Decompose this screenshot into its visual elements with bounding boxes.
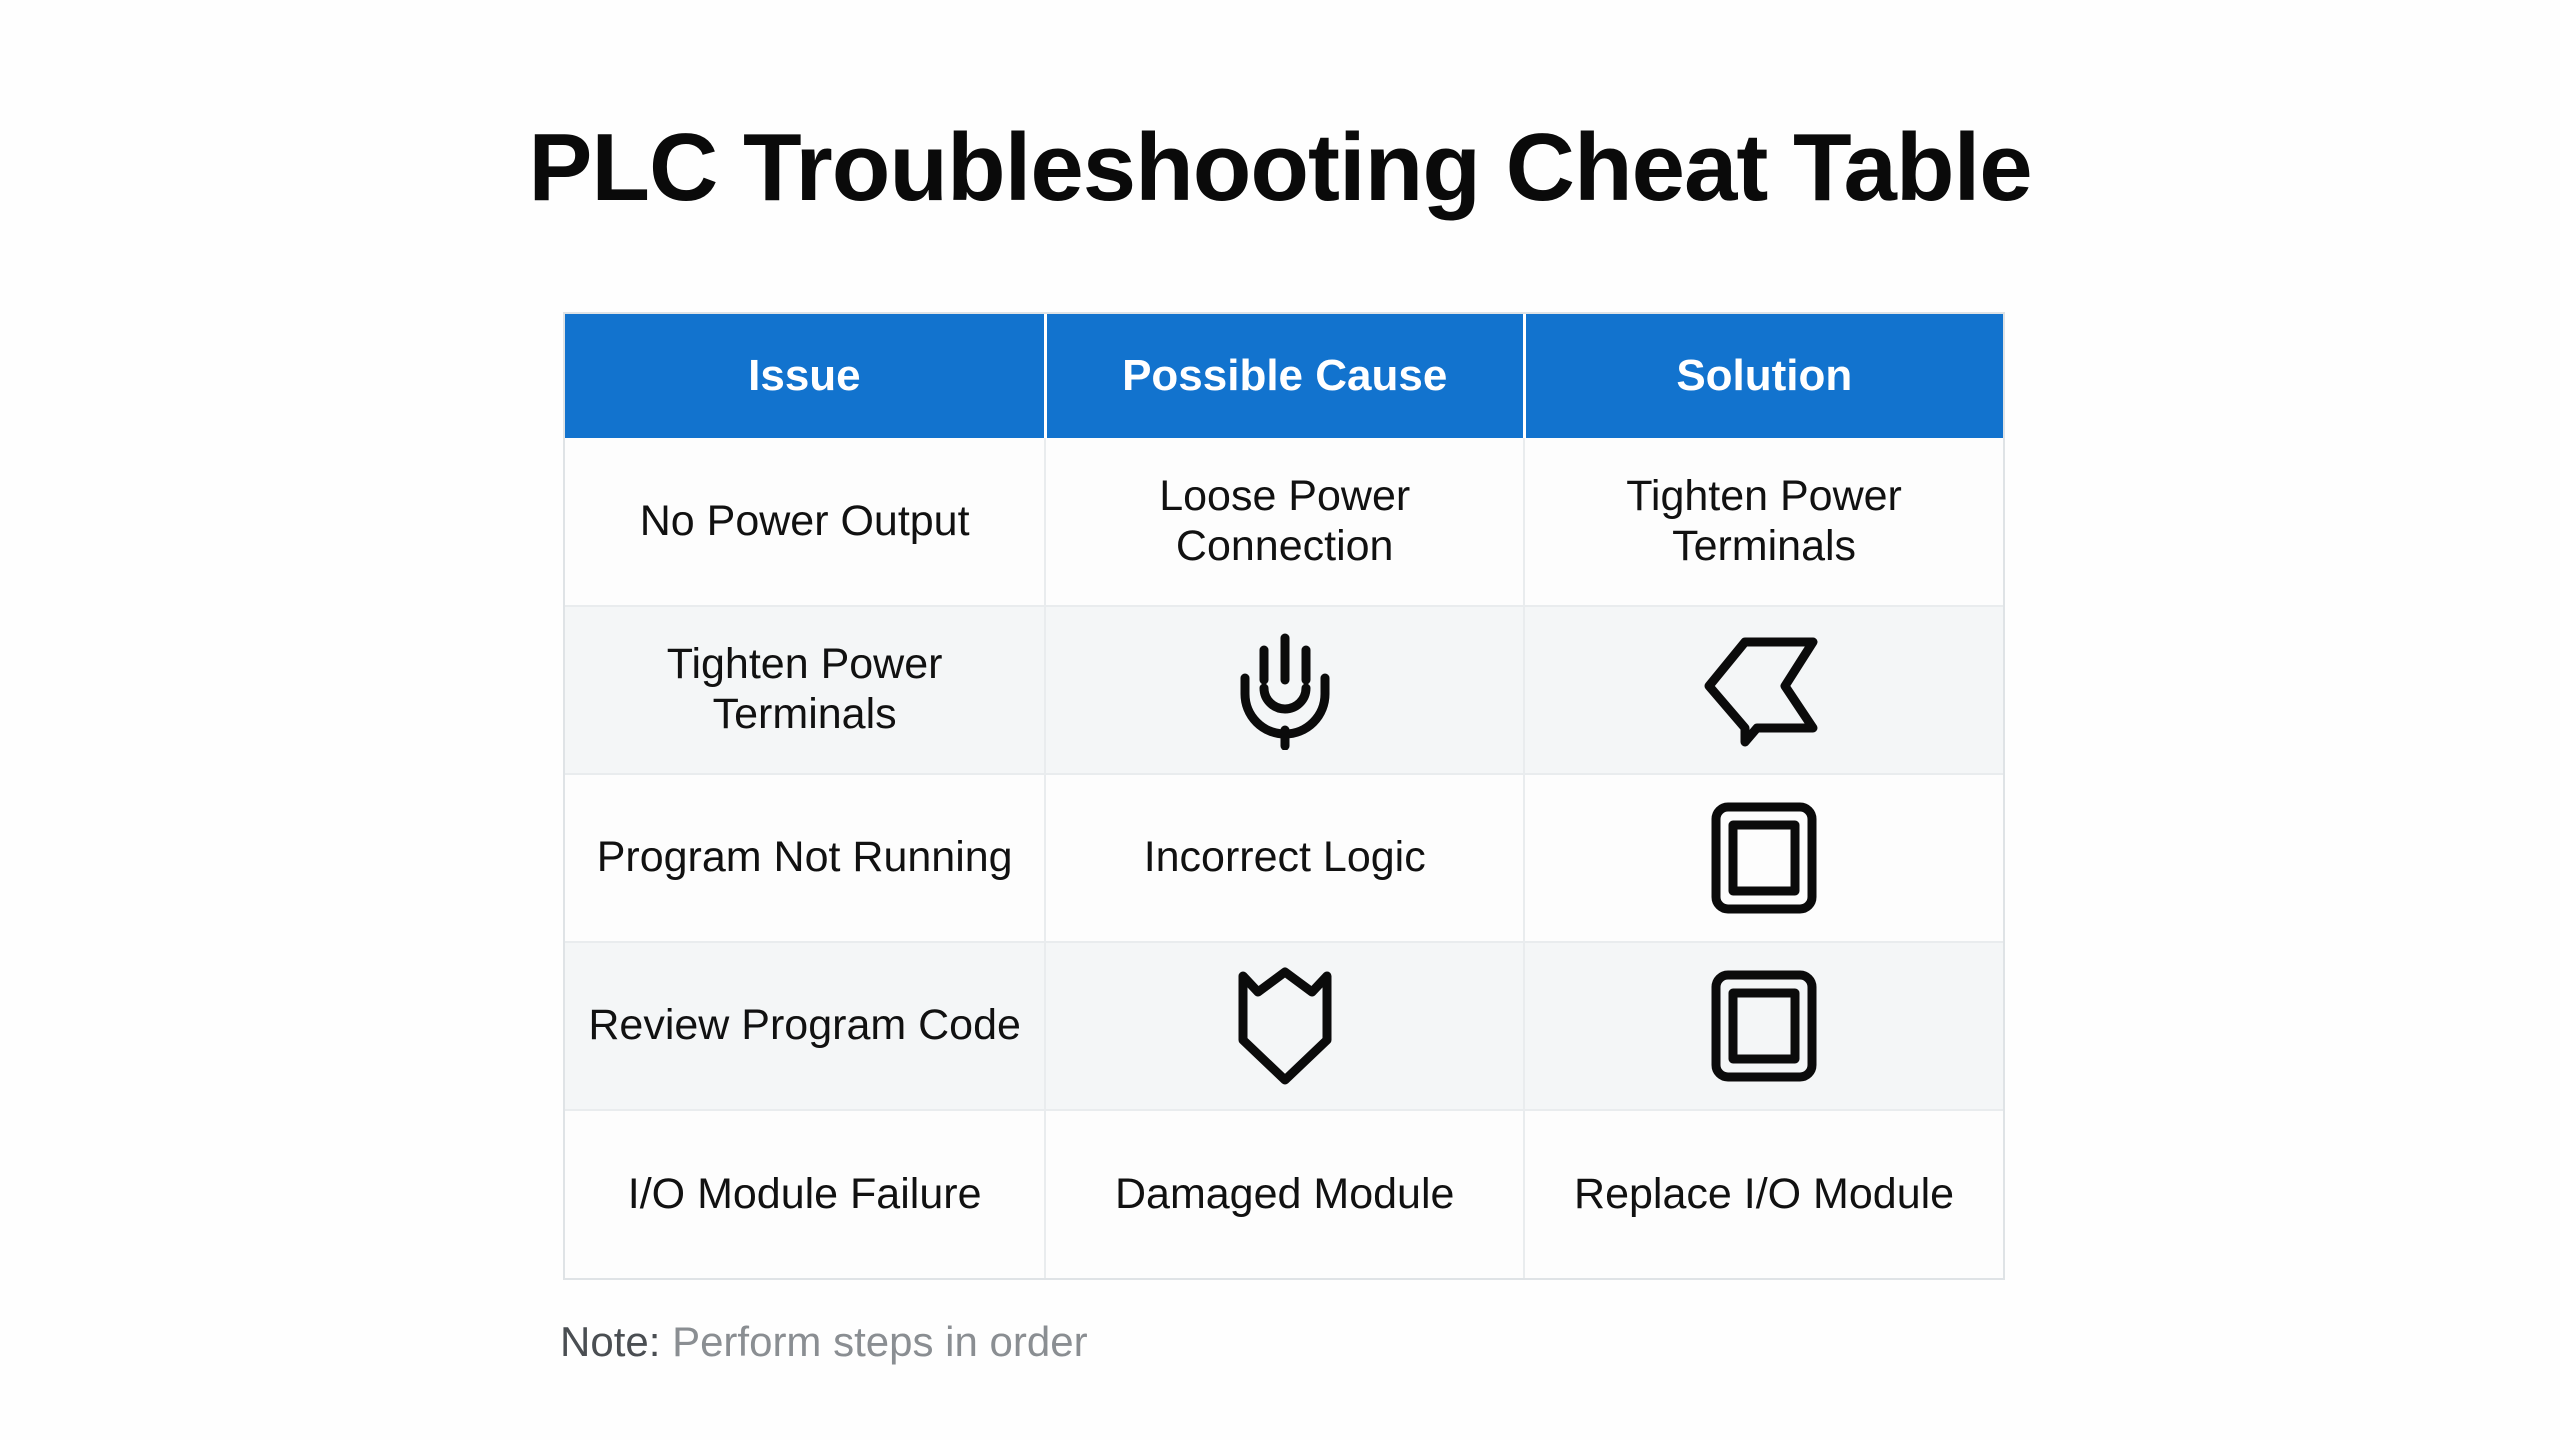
shield-badge-icon [1233,964,1337,1088]
module-screen-icon[interactable] [1524,774,2003,942]
cell-issue[interactable]: Program Not Running [565,774,1045,942]
module-screen-icon [1707,798,1821,918]
cell-text: No Power Output [575,497,1034,547]
cell-issue[interactable]: I/O Module Failure [565,1110,1045,1278]
cell-issue[interactable]: Review Program Code [565,942,1045,1110]
cell-text: Tighten Power Terminals [1535,472,1993,572]
cell-text: Damaged Module [1056,1170,1513,1220]
table-row: Program Not RunningIncorrect Logic [565,774,2003,942]
note-label: Note: [560,1318,660,1365]
cell-text: Incorrect Logic [1056,833,1513,883]
cell-text: Loose Power Connection [1056,472,1513,572]
cell-text: Replace I/O Module [1535,1170,1993,1220]
footer-note: Note: Perform steps in order [560,1318,1088,1366]
page-title: PLC Troubleshooting Cheat Table [0,118,2560,219]
cell-cause[interactable]: Loose Power Connection [1045,438,1524,606]
table-header: Issue Possible Cause Solution [565,314,2003,438]
troubleshooting-table: Issue Possible Cause Solution No Power O… [565,314,2003,1278]
cell-text: Program Not Running [575,833,1034,883]
header-row: Issue Possible Cause Solution [565,314,2003,438]
note-body: Perform steps in order [672,1318,1088,1365]
cell-solution[interactable]: Tighten Power Terminals [1524,438,2003,606]
cell-cause[interactable]: Incorrect Logic [1045,774,1524,942]
module-screen-icon[interactable] [1524,942,2003,1110]
table-body: No Power OutputLoose Power ConnectionTig… [565,438,2003,1278]
table-row: Tighten Power Terminals [565,606,2003,774]
antenna-signal-icon[interactable] [1045,606,1524,774]
column-header-cause[interactable]: Possible Cause [1045,314,1524,438]
module-screen-icon [1707,966,1821,1086]
cell-text: Review Program Code [575,1001,1034,1051]
cheat-table-container: Issue Possible Cause Solution No Power O… [563,312,2005,1280]
arrow-left-icon[interactable] [1524,606,2003,774]
arrow-left-icon [1701,630,1827,750]
table-row: I/O Module FailureDamaged ModuleReplace … [565,1110,2003,1278]
cell-cause[interactable]: Damaged Module [1045,1110,1524,1278]
table-row: No Power OutputLoose Power ConnectionTig… [565,438,2003,606]
slide-canvas: PLC Troubleshooting Cheat Table Issue Po… [0,0,2560,1440]
antenna-signal-icon [1231,630,1339,750]
shield-badge-icon[interactable] [1045,942,1524,1110]
cell-issue[interactable]: Tighten Power Terminals [565,606,1045,774]
column-header-solution[interactable]: Solution [1524,314,2003,438]
column-header-issue[interactable]: Issue [565,314,1045,438]
cell-solution[interactable]: Replace I/O Module [1524,1110,2003,1278]
table-row: Review Program Code [565,942,2003,1110]
cell-text: Tighten Power Terminals [575,640,1034,740]
cell-text: I/O Module Failure [575,1170,1034,1220]
cell-issue[interactable]: No Power Output [565,438,1045,606]
